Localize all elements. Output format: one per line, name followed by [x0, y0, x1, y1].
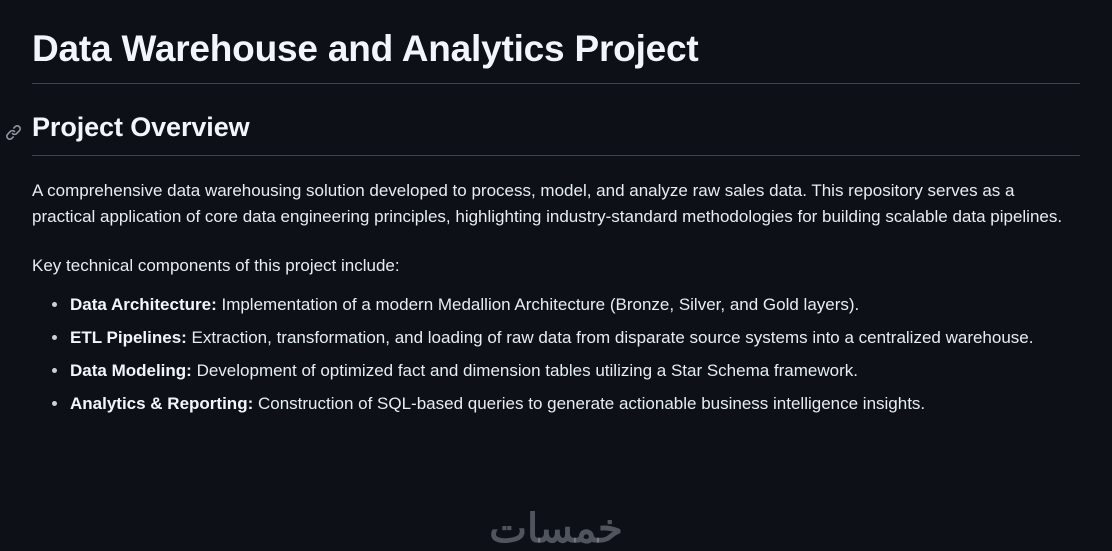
list-item-label: Data Modeling: [70, 361, 192, 380]
link-icon[interactable] [4, 123, 22, 141]
overview-paragraph: A comprehensive data warehousing solutio… [32, 178, 1080, 230]
list-item-label: ETL Pipelines: [70, 328, 187, 347]
watermark: خمسات [0, 509, 1112, 549]
list-item: Analytics & Reporting: Construction of S… [64, 391, 1080, 417]
components-intro: Key technical components of this project… [32, 253, 1080, 279]
section-heading-block: Project Overview [32, 111, 1080, 156]
list-item-text: Development of optimized fact and dimens… [192, 361, 858, 380]
document-title-block: Data Warehouse and Analytics Project [32, 0, 1080, 84]
list-item-text: Extraction, transformation, and loading … [187, 328, 1034, 347]
list-item: Data Modeling: Development of optimized … [64, 358, 1080, 384]
section-title: Project Overview [32, 111, 1080, 155]
list-item: ETL Pipelines: Extraction, transformatio… [64, 325, 1080, 351]
readme-article: Data Warehouse and Analytics Project Pro… [0, 0, 1112, 541]
list-item-text: Implementation of a modern Medallion Arc… [217, 295, 860, 314]
list-item-label: Data Architecture: [70, 295, 217, 314]
list-item-text: Construction of SQL-based queries to gen… [253, 394, 925, 413]
components-list: Data Architecture: Implementation of a m… [32, 292, 1080, 416]
list-item: Data Architecture: Implementation of a m… [64, 292, 1080, 318]
page-title: Data Warehouse and Analytics Project [32, 26, 1080, 83]
list-item-label: Analytics & Reporting: [70, 394, 253, 413]
section-divider [32, 155, 1080, 156]
title-divider [32, 83, 1080, 84]
